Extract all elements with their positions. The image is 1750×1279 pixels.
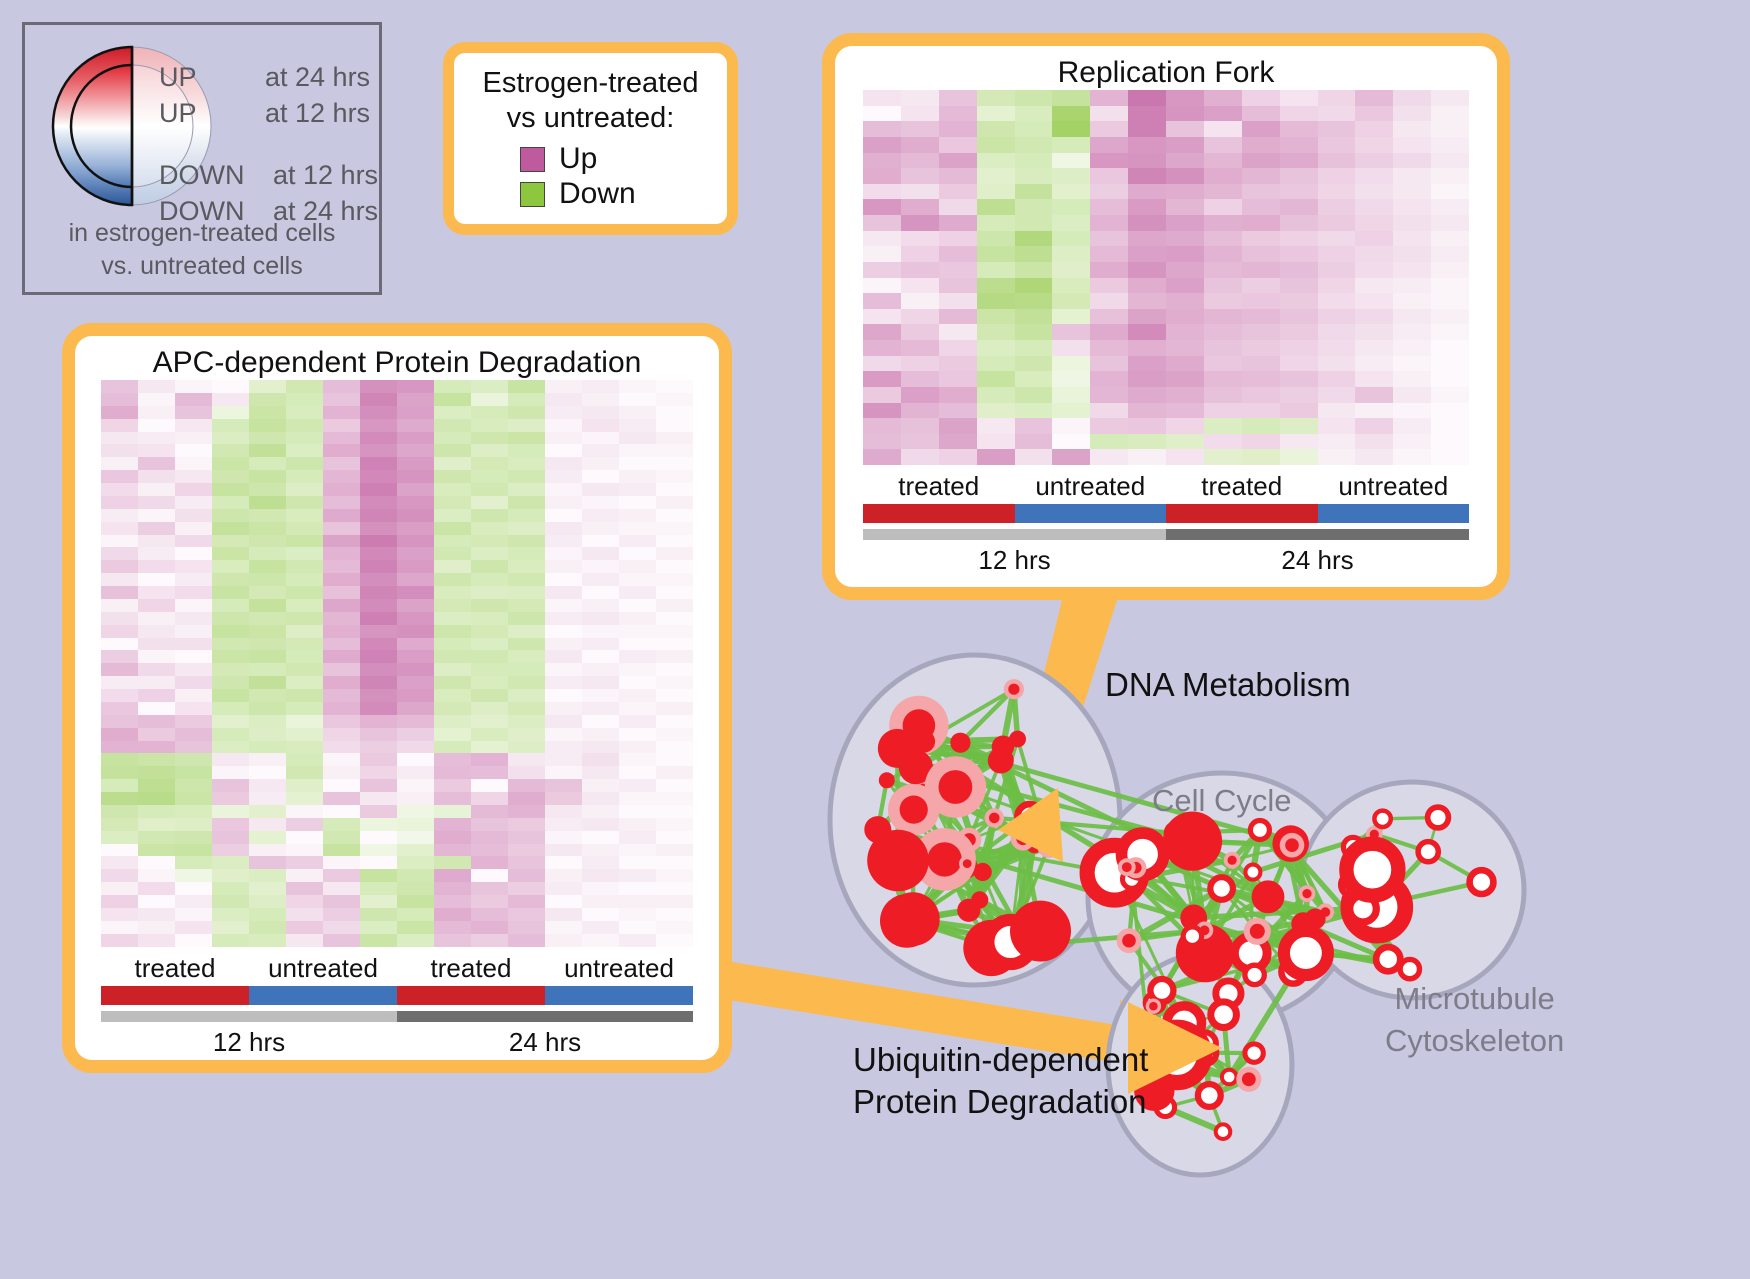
heatmap-cell (434, 406, 471, 419)
network-node[interactable] (1272, 825, 1309, 862)
network-node[interactable] (1418, 842, 1438, 862)
heatmap-cell (582, 921, 619, 934)
network-node[interactable] (1011, 826, 1035, 850)
network-node[interactable] (1470, 870, 1494, 894)
heatmap-cell (1204, 153, 1242, 169)
heatmap-cell (249, 844, 286, 857)
heatmap-cell (863, 168, 901, 184)
rf-cond-1: untreated (1015, 471, 1167, 502)
heatmap-cell (101, 560, 138, 573)
heatmap-cell (101, 650, 138, 663)
heatmap-cell (582, 573, 619, 586)
heatmap-cell (1204, 449, 1242, 465)
heatmap-cell (1052, 356, 1090, 372)
heatmap-cell (656, 753, 693, 766)
network-node[interactable] (1234, 937, 1267, 970)
heatmap-cell (863, 293, 901, 309)
network-node[interactable] (1180, 905, 1207, 932)
heatmap-cell (286, 766, 323, 779)
network-node[interactable] (899, 750, 933, 784)
heatmap-cell (656, 869, 693, 882)
network-node[interactable] (1012, 925, 1031, 944)
heatmap-cell (434, 509, 471, 522)
heatmap-cell (1431, 153, 1469, 169)
heatmap-cell (1166, 387, 1204, 403)
heatmap-cell (212, 535, 249, 548)
heatmap-cell (212, 638, 249, 651)
network-node[interactable] (886, 892, 940, 946)
network-node[interactable] (988, 920, 1032, 964)
heatmap-cell (471, 753, 508, 766)
heatmap-cell (619, 702, 656, 715)
heatmap-cell (1393, 215, 1431, 231)
heatmap-cell (212, 432, 249, 445)
heatmap-cell (286, 663, 323, 676)
heatmap-cell (1355, 356, 1393, 372)
heatmap-cell (619, 522, 656, 535)
network-node[interactable] (1010, 901, 1071, 962)
network-node[interactable] (1198, 1084, 1221, 1107)
heatmap-cell (545, 560, 582, 573)
heatmap-cell (360, 432, 397, 445)
heatmap-cell (1204, 215, 1242, 231)
heatmap-cell (582, 895, 619, 908)
heatmap-cell (901, 90, 939, 106)
heatmap-cell (1393, 199, 1431, 215)
heatmap-cell (471, 728, 508, 741)
heatmap-cell (175, 380, 212, 393)
heatmap-cell (545, 586, 582, 599)
heatmap-cell (397, 483, 434, 496)
network-node[interactable] (889, 696, 948, 755)
network-node-core (1016, 929, 1027, 940)
heatmap-cell (863, 199, 901, 215)
heatmap-cell (1393, 121, 1431, 137)
heatmap-cell (360, 599, 397, 612)
heatmap-cell (1280, 449, 1318, 465)
heatmap-cell (323, 702, 360, 715)
heatmap-cell (545, 638, 582, 651)
network-node-core (903, 709, 936, 742)
heatmap-cell (138, 509, 175, 522)
heatmap-cell (286, 457, 323, 470)
heatmap-cell (656, 728, 693, 741)
heatmap-cell (1128, 418, 1166, 434)
heatmap-cell (1015, 106, 1053, 122)
heatmap-cell (1355, 387, 1393, 403)
heatmap-cell (397, 535, 434, 548)
network-node[interactable] (1125, 857, 1146, 878)
heatmap-cell (1242, 449, 1280, 465)
network-node[interactable] (913, 730, 935, 752)
network-node[interactable] (916, 780, 931, 795)
heatmap-cell (286, 934, 323, 947)
heatmap-cell (939, 121, 977, 137)
heatmap-cell (249, 895, 286, 908)
heatmap-cell (1090, 324, 1128, 340)
network-node[interactable] (1087, 845, 1142, 900)
heatmap-cell (1090, 449, 1128, 465)
heatmap-cell (101, 895, 138, 908)
heatmap-cell (249, 496, 286, 509)
heatmap-cell (977, 371, 1015, 387)
heatmap-cell (939, 106, 977, 122)
network-node[interactable] (1177, 1018, 1198, 1039)
heatmap-cell (1242, 403, 1280, 419)
network-node[interactable] (1245, 965, 1264, 984)
network-node[interactable] (1176, 924, 1235, 983)
heatmap-cell (323, 547, 360, 560)
heatmap-cell (863, 215, 901, 231)
heatmap-cell (1431, 293, 1469, 309)
network-node[interactable] (1196, 922, 1214, 940)
network-node[interactable] (1157, 1055, 1182, 1080)
network-node[interactable] (1123, 870, 1142, 889)
heatmap-cell (175, 457, 212, 470)
network-node[interactable] (878, 729, 917, 768)
network-node[interactable] (1118, 858, 1136, 876)
heatmap-cell (1052, 387, 1090, 403)
heatmap-cell (397, 650, 434, 663)
heatmap-cell (1393, 403, 1431, 419)
heatmap-cell (582, 509, 619, 522)
network-node[interactable] (925, 756, 986, 817)
heatmap-cell (508, 766, 545, 779)
network-node[interactable] (1164, 821, 1188, 845)
heatmap-cell (1280, 340, 1318, 356)
heatmap-cell (286, 509, 323, 522)
network-node[interactable] (1284, 931, 1328, 975)
rf-time-1: 24 hrs (1166, 545, 1469, 576)
heatmap-cell (212, 547, 249, 560)
network-node[interactable] (1252, 880, 1285, 913)
heatmap-cell (212, 663, 249, 676)
heatmap-cell (360, 844, 397, 857)
heatmap-cell (977, 90, 1015, 106)
heatmap-cell (1128, 199, 1166, 215)
heatmap-cell (286, 586, 323, 599)
network-node[interactable] (1026, 837, 1042, 853)
heatmap-cell (582, 535, 619, 548)
heatmap-cell (1166, 278, 1204, 294)
heatmap-cell (1355, 262, 1393, 278)
heatmap-cell (323, 882, 360, 895)
heatmap-cell (977, 137, 1015, 153)
heatmap-cell (138, 805, 175, 818)
heatmap-cell (619, 380, 656, 393)
heatmap-cell (1015, 418, 1053, 434)
heatmap-cell (138, 844, 175, 857)
heatmap-cell (212, 779, 249, 792)
heatmap-cell (619, 432, 656, 445)
network-node[interactable] (1018, 804, 1043, 829)
heatmap-cell (434, 728, 471, 741)
heatmap-cell (863, 371, 901, 387)
network-node[interactable] (1167, 1006, 1202, 1041)
network-node[interactable] (1366, 826, 1383, 843)
heatmap-cell (397, 934, 434, 947)
heatmap-cell (1090, 371, 1128, 387)
network-node[interactable] (1117, 928, 1142, 953)
heatmap-cell (1242, 199, 1280, 215)
heatmap-cell (323, 573, 360, 586)
network-node[interactable] (1244, 918, 1271, 945)
heatmap-cell (360, 934, 397, 947)
heatmap-cell (656, 805, 693, 818)
heatmap-cell (397, 689, 434, 702)
heatmap-cell (101, 702, 138, 715)
heatmap-cell (1393, 387, 1431, 403)
heatmap-cell (1355, 340, 1393, 356)
network-node[interactable] (1376, 947, 1400, 971)
heatmap-cell (397, 663, 434, 676)
heatmap-cell (508, 856, 545, 869)
heatmap-cell (656, 766, 693, 779)
heatmap-cell (863, 262, 901, 278)
network-node[interactable] (1224, 852, 1241, 869)
heatmap-cell (582, 882, 619, 895)
network-node[interactable] (1374, 811, 1390, 827)
heatmap-cell (175, 689, 212, 702)
network-node[interactable] (1291, 912, 1315, 936)
legend-heading-line1: Estrogen-treated (454, 66, 727, 101)
network-node[interactable] (959, 856, 975, 872)
network-node[interactable] (1193, 1041, 1216, 1064)
heatmap-cell (619, 715, 656, 728)
heatmap-cell (1431, 246, 1469, 262)
heatmap-cell (656, 689, 693, 702)
network-node[interactable] (974, 863, 992, 881)
heatmap-cell (397, 818, 434, 831)
heatmap-cell (619, 779, 656, 792)
microtubule-line1: Microtubule (1385, 978, 1564, 1020)
heatmap-cell (175, 638, 212, 651)
network-node[interactable] (1277, 834, 1295, 852)
replication-fork-title: Replication Fork (863, 56, 1469, 90)
heatmap-cell (977, 387, 1015, 403)
network-node-core (1122, 934, 1136, 948)
heatmap-cell (977, 184, 1015, 200)
heatmap-cell (471, 715, 508, 728)
heatmap-cell (1318, 246, 1356, 262)
heatmap-cell (434, 535, 471, 548)
heatmap-cell (1318, 434, 1356, 450)
heatmap-cell (582, 676, 619, 689)
network-node[interactable] (1216, 981, 1241, 1006)
heatmap-cell (212, 715, 249, 728)
network-node[interactable] (1004, 679, 1024, 699)
network-node[interactable] (1156, 1098, 1175, 1117)
heatmap-cell (1393, 231, 1431, 247)
heatmap-cell (471, 444, 508, 457)
heatmap-cell (1204, 199, 1242, 215)
network-node[interactable] (864, 816, 891, 843)
heatmap-cell (249, 547, 286, 560)
heatmap-cell (212, 676, 249, 689)
heatmap-cell (1166, 418, 1204, 434)
heatmap-cell (471, 406, 508, 419)
network-node[interactable] (1245, 1044, 1263, 1062)
heatmap-cell (545, 457, 582, 470)
heatmap-cell (138, 419, 175, 432)
network-node[interactable] (1400, 959, 1419, 978)
heatmap-cell (619, 831, 656, 844)
heatmap-cell (582, 470, 619, 483)
network-node[interactable] (1037, 834, 1061, 858)
heatmap-cell (1128, 403, 1166, 419)
network-node[interactable] (992, 736, 1014, 758)
network-node[interactable] (963, 920, 1019, 976)
heatmap-cell (656, 599, 693, 612)
heatmap-cell (1166, 184, 1204, 200)
heatmap-cell (977, 106, 1015, 122)
heatmap-cell (286, 831, 323, 844)
heatmap-cell (977, 231, 1015, 247)
heatmap-cell (360, 856, 397, 869)
heatmap-cell (1393, 262, 1431, 278)
heatmap-cell (1355, 246, 1393, 262)
heatmap-cell (1280, 418, 1318, 434)
heatmap-cell (434, 676, 471, 689)
network-node-core (1200, 925, 1210, 935)
network-node[interactable] (1149, 1027, 1204, 1082)
heatmap-cell (397, 728, 434, 741)
heatmap-cell (175, 766, 212, 779)
rf-time-0: 12 hrs (863, 545, 1166, 576)
heatmap-cell (901, 356, 939, 372)
heatmap-cell (545, 393, 582, 406)
network-node[interactable] (988, 748, 1014, 774)
heatmap-cell (1318, 168, 1356, 184)
heatmap-cell (249, 393, 286, 406)
network-node[interactable] (1236, 1067, 1261, 1092)
network-node[interactable] (1194, 1032, 1216, 1054)
network-node[interactable] (1281, 960, 1305, 984)
network-node[interactable] (1250, 821, 1269, 840)
heatmap-cell (434, 586, 471, 599)
heatmap-cell (434, 419, 471, 432)
heatmap-cell (939, 153, 977, 169)
heatmap-cell (619, 882, 656, 895)
heatmap-cell (545, 895, 582, 908)
network-node[interactable] (1428, 807, 1449, 828)
heatmap-cell (1280, 121, 1318, 137)
network-node[interactable] (950, 733, 970, 753)
heatmap-cell (619, 535, 656, 548)
network-node[interactable] (952, 854, 978, 880)
heatmap-cell (1090, 231, 1128, 247)
heatmap-cell (175, 612, 212, 625)
heatmap-cell (212, 406, 249, 419)
network-node[interactable] (1317, 903, 1334, 920)
heatmap-cell (545, 496, 582, 509)
heatmap-cell (619, 586, 656, 599)
heatmap-cell (212, 908, 249, 921)
heatmap-cell (286, 496, 323, 509)
condition-bar-segment (1318, 504, 1470, 523)
heatmap-cell (863, 231, 901, 247)
network-node[interactable] (901, 743, 916, 758)
network-node[interactable] (1150, 979, 1173, 1002)
network-node[interactable] (1348, 879, 1405, 936)
network-node[interactable] (879, 772, 895, 788)
legend-item-up: Up (520, 142, 727, 176)
heatmap-cell (138, 728, 175, 741)
heatmap-cell (1393, 434, 1431, 450)
network-node[interactable] (1009, 731, 1026, 748)
network-node[interactable] (888, 784, 939, 835)
callout-arrow-replication-fork (1000, 600, 1117, 860)
heatmap-cell (619, 792, 656, 805)
heatmap-cell (323, 470, 360, 483)
heatmap-cell (656, 393, 693, 406)
heatmap-cell (863, 324, 901, 340)
heatmap-cell (1015, 90, 1053, 106)
network-node[interactable] (913, 828, 976, 891)
heatmap-cell (508, 831, 545, 844)
network-node[interactable] (867, 830, 929, 892)
heatmap-cell (619, 766, 656, 779)
heatmap-cell (656, 831, 693, 844)
heatmap-cell (1090, 137, 1128, 153)
heatmap-cell (434, 741, 471, 754)
network-node[interactable] (1280, 833, 1305, 858)
heatmap-cell (323, 766, 360, 779)
network-node[interactable] (1216, 1124, 1231, 1139)
network-node[interactable] (1145, 993, 1164, 1012)
heatmap-cell (1166, 199, 1204, 215)
heatmap-cell (619, 444, 656, 457)
network-node[interactable] (957, 828, 981, 852)
heatmap-cell (249, 869, 286, 882)
heatmap-cell (471, 895, 508, 908)
heatmap-cell (175, 509, 212, 522)
heatmap-cell (360, 547, 397, 560)
heatmap-cell (1355, 371, 1393, 387)
network-node[interactable] (1245, 865, 1260, 880)
network-node[interactable] (1147, 1048, 1162, 1063)
network-node[interactable] (1211, 1002, 1237, 1028)
network-node[interactable] (1210, 877, 1233, 900)
network-node[interactable] (1343, 837, 1362, 856)
network-node[interactable] (1183, 927, 1201, 945)
heatmap-cell (1318, 449, 1356, 465)
network-node[interactable] (1350, 895, 1377, 922)
heatmap-cell (1090, 278, 1128, 294)
network-node-core (1321, 907, 1331, 917)
network-node[interactable] (1305, 909, 1326, 930)
heatmap-cell (656, 625, 693, 638)
network-node[interactable] (957, 899, 980, 922)
heatmap-cell (138, 741, 175, 754)
network-node[interactable] (880, 894, 934, 948)
network-node[interactable] (1222, 1070, 1237, 1085)
heatmap-cell (434, 650, 471, 663)
network-node[interactable] (1346, 844, 1398, 896)
heatmap-cell (360, 573, 397, 586)
heatmap-cell (1052, 293, 1090, 309)
network-node-core (1228, 856, 1237, 865)
network-node[interactable] (985, 808, 1004, 827)
network-node[interactable] (1341, 873, 1364, 896)
network-node[interactable] (1146, 999, 1161, 1014)
heatmap-cell (323, 432, 360, 445)
network-node[interactable] (971, 891, 988, 908)
heatmap-cell (249, 663, 286, 676)
network-node[interactable] (1299, 885, 1316, 902)
heatmap-cell (1052, 184, 1090, 200)
network-node[interactable] (1122, 833, 1164, 875)
